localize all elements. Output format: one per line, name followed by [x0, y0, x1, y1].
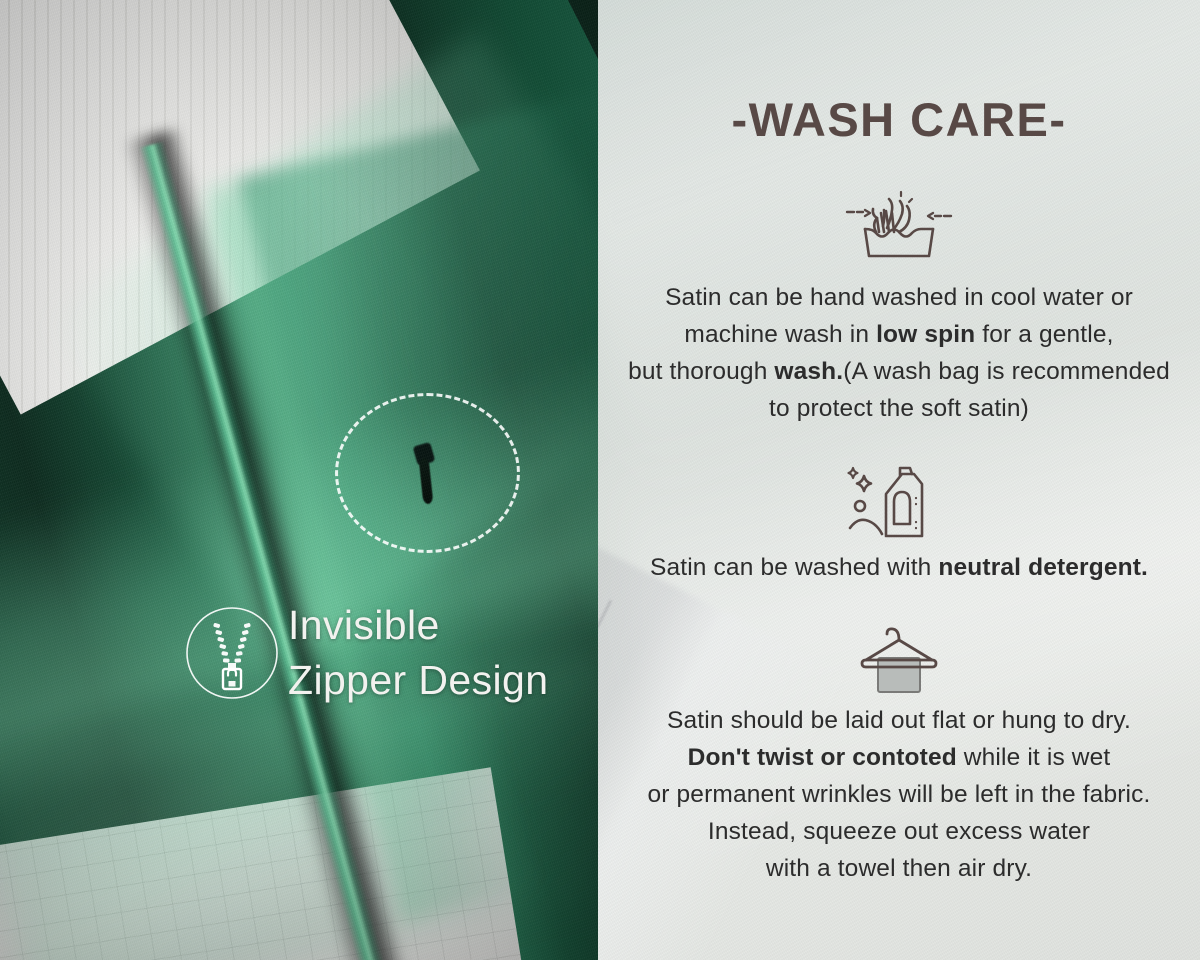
zipper-caption-line2: Zipper Design — [288, 653, 588, 708]
care-line-text: to protect the soft satin) — [769, 395, 1029, 422]
care-line: machine wash in low spin for a gentle, — [602, 316, 1196, 353]
zipper-icon — [184, 605, 280, 701]
wash-care-panel: -WASH CARE- — [598, 0, 1200, 960]
wash-care-product-infographic: Invisible Zipper Design -WASH CARE- — [0, 0, 1200, 960]
care-line: to protect the soft satin) — [602, 390, 1196, 427]
care-line-text: with a towel then air dry. — [766, 855, 1032, 882]
care-instruction-detergent: Satin can be washed with neutral deterge… — [602, 549, 1196, 586]
care-line: Satin should be laid out flat or hung to… — [602, 702, 1196, 739]
zipper-caption-line1: Invisible — [288, 598, 588, 653]
care-line: Satin can be hand washed in cool water o… — [602, 279, 1196, 316]
hand-wash-icon-wrap — [598, 182, 1200, 267]
care-line-emphasis: low spin — [876, 321, 975, 348]
care-line: Satin can be washed with neutral deterge… — [602, 549, 1196, 586]
care-line: but thorough wash.(A wash bag is recomme… — [602, 353, 1196, 390]
care-line-emphasis: wash. — [774, 358, 843, 385]
page-title: -WASH CARE- — [598, 92, 1200, 147]
zipper-badge — [184, 605, 280, 701]
care-line-text: for a gentle, — [975, 321, 1113, 348]
detergent-icon-wrap — [598, 462, 1200, 545]
care-line-emphasis: Don't twist or contoted — [688, 744, 957, 771]
care-line-text: but thorough — [628, 358, 774, 385]
care-line: or permanent wrinkles will be left in th… — [602, 776, 1196, 813]
care-line-text: Instead, squeeze out excess water — [708, 818, 1090, 845]
care-instruction-drying: Satin should be laid out flat or hung to… — [602, 702, 1196, 887]
care-line-text: Satin should be laid out flat or hung to… — [667, 707, 1131, 734]
care-line-text: Satin can be washed with — [650, 554, 938, 581]
care-line-text: Satin can be hand washed in cool water o… — [665, 284, 1133, 311]
care-line: Don't twist or contoted while it is wet — [602, 739, 1196, 776]
care-line: Instead, squeeze out excess water — [602, 813, 1196, 850]
care-line-text: while it is wet — [957, 744, 1111, 771]
hanger-icon-wrap — [598, 616, 1200, 699]
care-line-emphasis: neutral detergent. — [938, 554, 1148, 581]
green-satin-pillowcase-photo: Invisible Zipper Design — [0, 0, 598, 960]
hand-wash-icon — [839, 182, 959, 262]
detergent-bottle-icon — [844, 462, 954, 540]
care-line-text: machine wash in — [684, 321, 876, 348]
dashed-circle-highlight-icon — [335, 393, 520, 553]
care-line-text: (A wash bag is recommended — [843, 358, 1170, 385]
care-line: with a towel then air dry. — [602, 850, 1196, 887]
zipper-caption: Invisible Zipper Design — [288, 598, 588, 708]
care-line-text: or permanent wrinkles will be left in th… — [647, 781, 1150, 808]
care-instruction-hand-wash: Satin can be hand washed in cool water o… — [602, 279, 1196, 427]
clothes-hanger-icon — [840, 616, 958, 694]
